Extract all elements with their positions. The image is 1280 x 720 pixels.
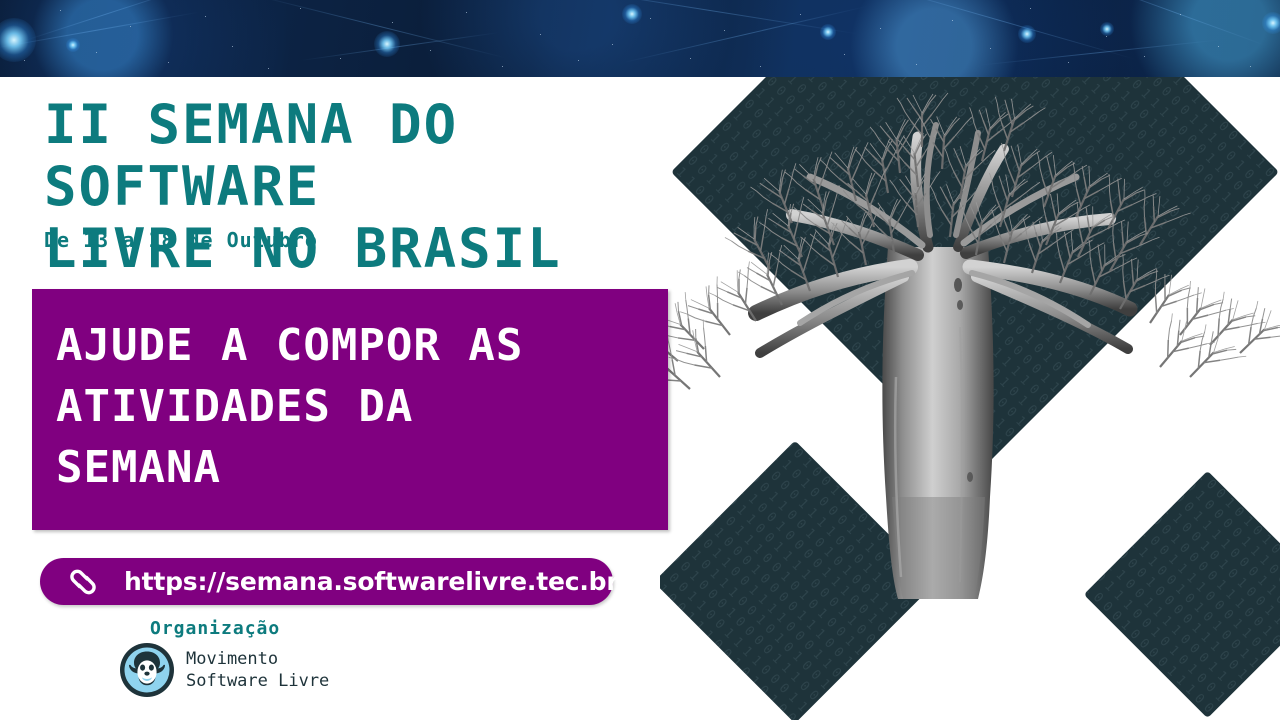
website-url-text: https://semana.softwarelivre.tec.br bbox=[124, 567, 618, 596]
star-glow bbox=[0, 18, 36, 62]
star-glow bbox=[374, 31, 400, 57]
organization-label: Organização bbox=[150, 618, 280, 639]
event-date: De 13 a 18 de Outubro bbox=[44, 228, 318, 252]
callout-text: AJUDE A COMPOR AS ATIVIDADES DA SEMANA bbox=[56, 315, 656, 498]
page-title: II SEMANA DO SOFTWARE LIVRE NO BRASIL bbox=[44, 94, 744, 280]
callout-line-1: AJUDE A COMPOR AS bbox=[56, 315, 656, 376]
org-name-line-1: Movimento bbox=[186, 649, 278, 669]
star-glow bbox=[1262, 12, 1280, 34]
star-glow bbox=[820, 24, 836, 40]
callout-box: AJUDE A COMPOR AS ATIVIDADES DA SEMANA bbox=[32, 289, 668, 530]
chain-link-icon bbox=[66, 567, 100, 597]
cosmic-starfield-banner bbox=[0, 0, 1280, 77]
headline-line-1: II SEMANA DO SOFTWARE bbox=[44, 94, 744, 218]
baobab-tree-photo bbox=[660, 77, 1280, 720]
star-glow bbox=[66, 38, 80, 52]
callout-line-3: SEMANA bbox=[56, 437, 656, 498]
star-glow bbox=[1100, 22, 1114, 36]
callout-line-2: ATIVIDADES DA bbox=[56, 376, 656, 437]
website-link-button[interactable]: https://semana.softwarelivre.tec.br bbox=[40, 558, 613, 605]
organization-row: Movimento Software Livre bbox=[118, 641, 329, 699]
poster-canvas: 0101001101010010101100101010011010010101… bbox=[0, 0, 1280, 720]
org-name-line-2: Software Livre bbox=[186, 671, 329, 691]
star-glow bbox=[622, 4, 642, 24]
star-glow bbox=[1018, 25, 1036, 43]
movimento-software-livre-penguin-logo bbox=[118, 641, 176, 699]
artwork-panel: 0101001101010010101100101010011010010101… bbox=[660, 77, 1280, 720]
organization-name: Movimento Software Livre bbox=[186, 648, 329, 692]
